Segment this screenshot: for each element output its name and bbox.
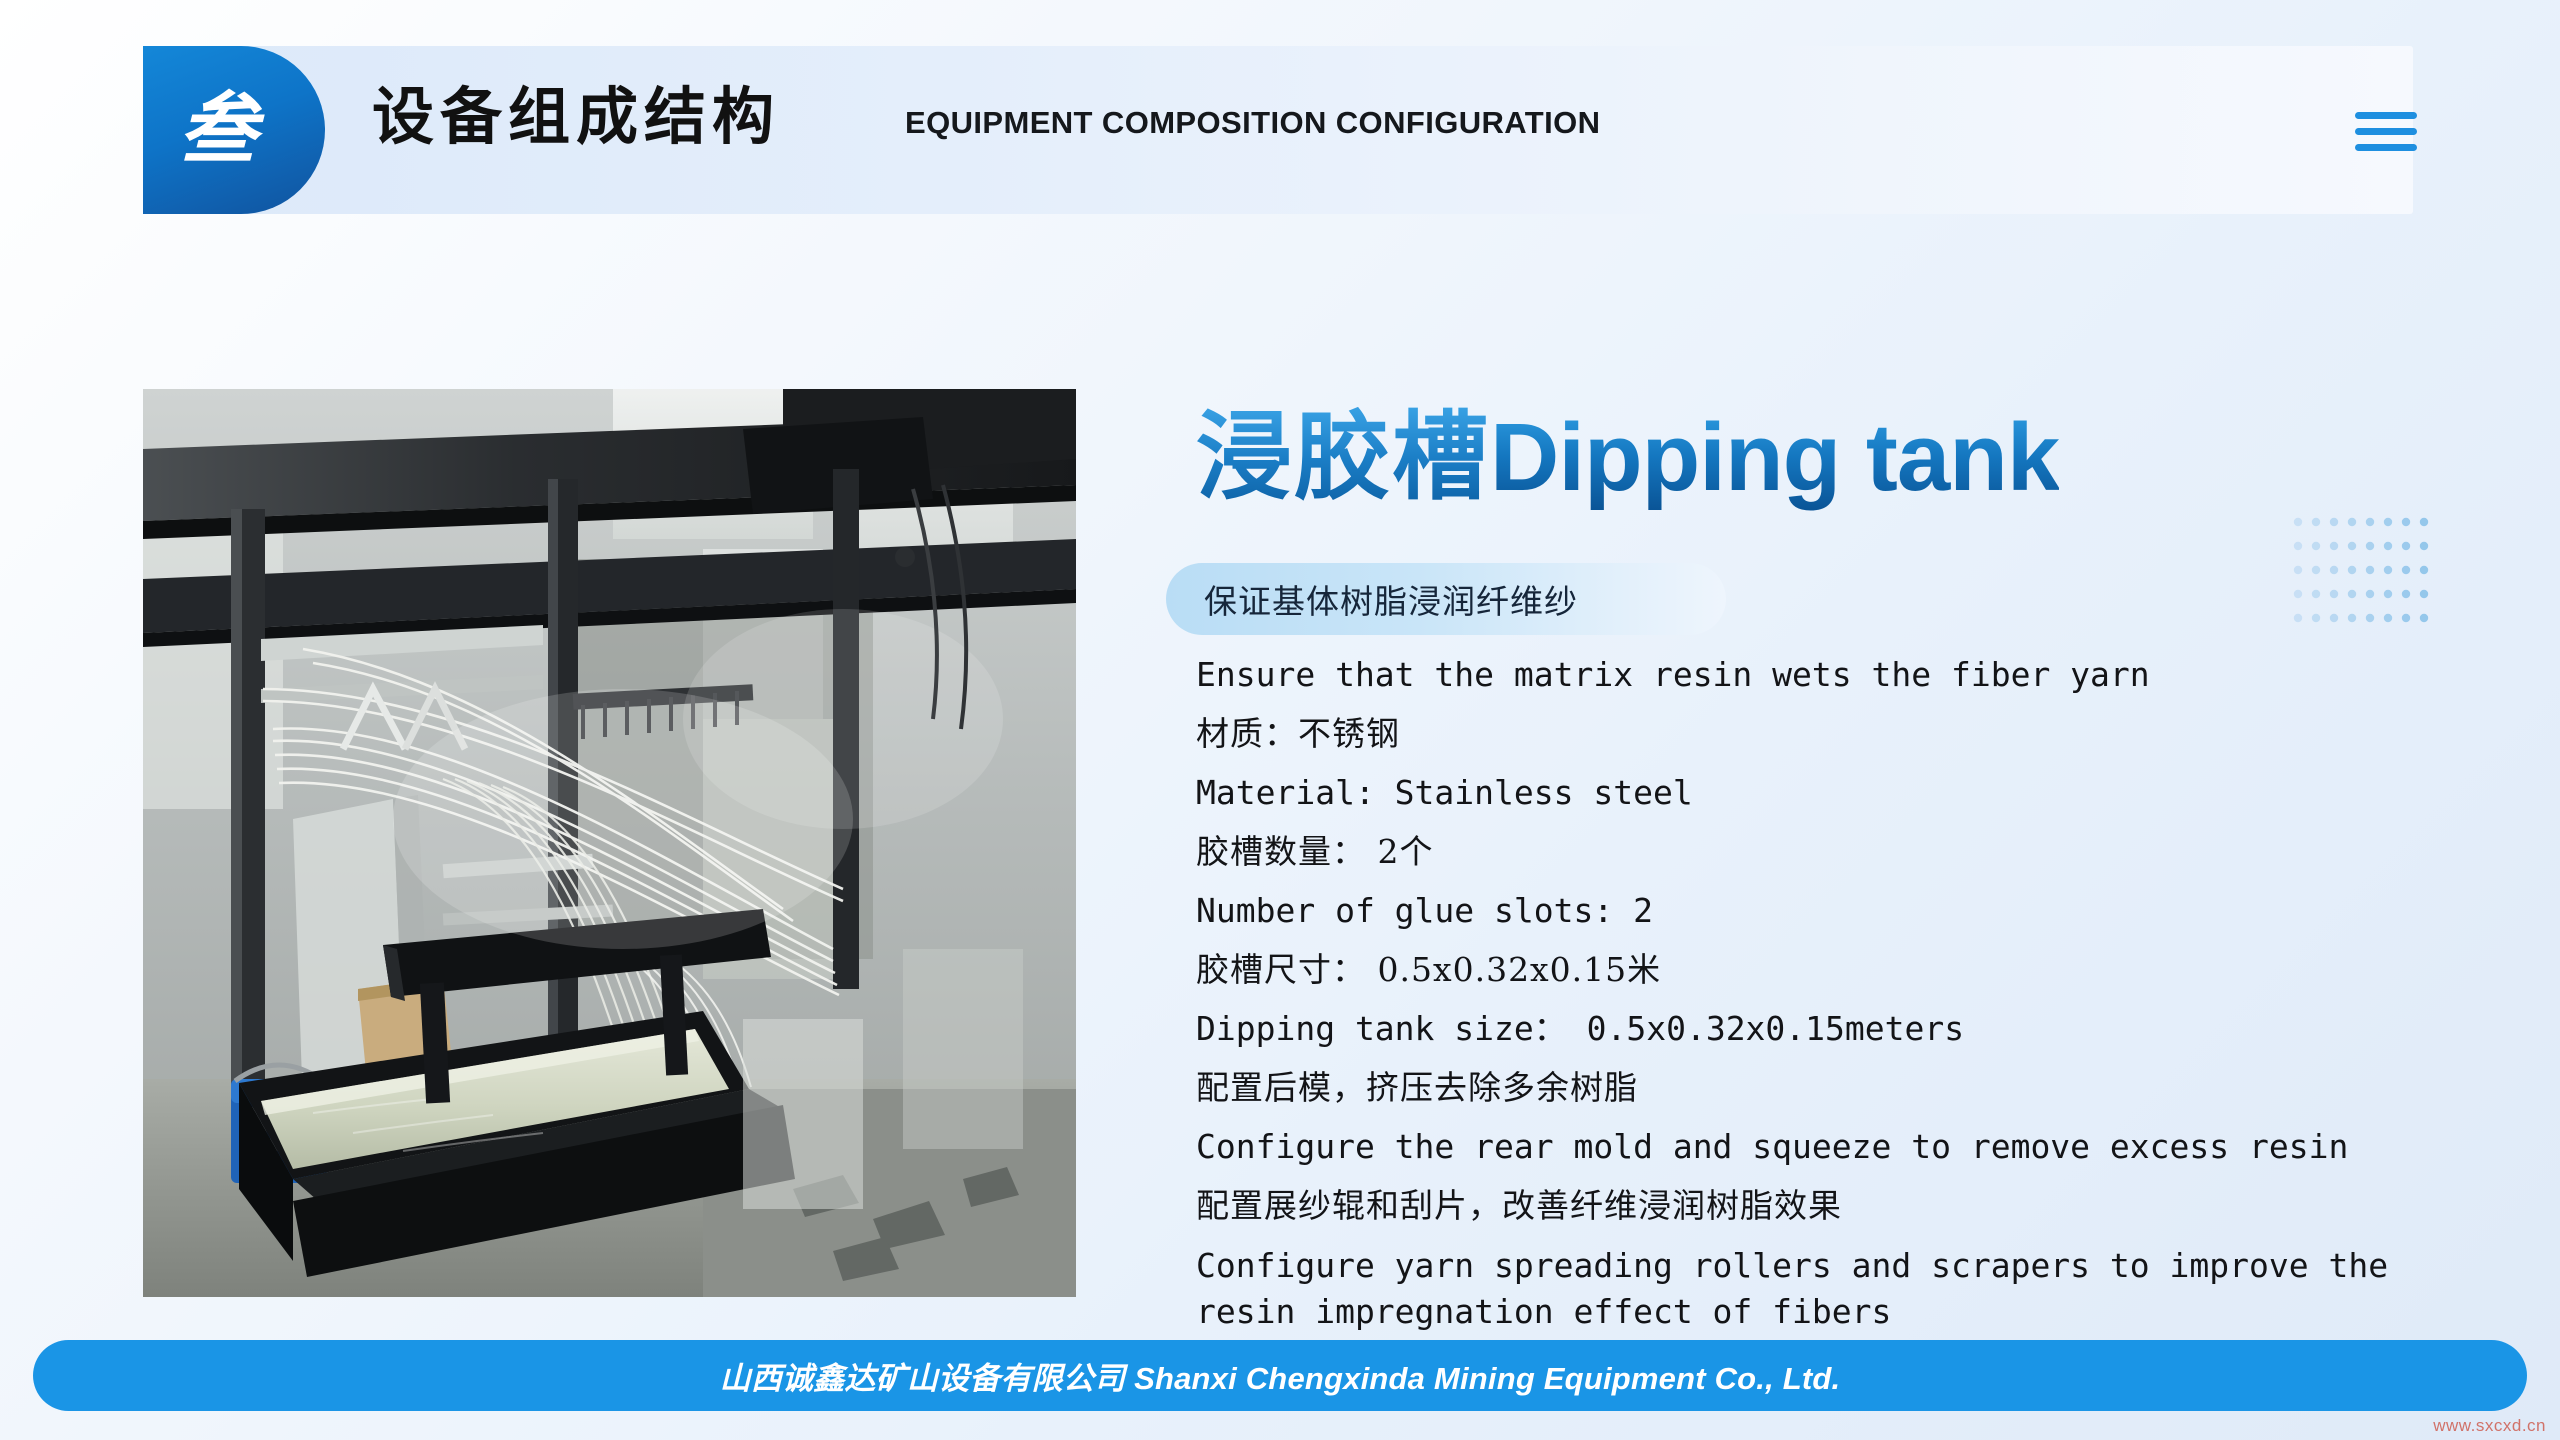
dot (2294, 614, 2302, 622)
section-number-badge: 叁 (143, 46, 325, 214)
dot (2420, 590, 2428, 598)
dot (2420, 566, 2428, 574)
footer-company-cn: 山西诚鑫达矿山设备有限公司 (720, 1361, 1126, 1396)
dot (2384, 614, 2392, 622)
subtitle-pill: 保证基体树脂浸润纤维纱 (1166, 563, 1726, 635)
dot (2366, 542, 2374, 550)
dot (2420, 542, 2428, 550)
equipment-photo-illustration (143, 389, 1076, 1297)
dot-grid-decoration (2292, 516, 2432, 634)
dot (2294, 518, 2302, 526)
spec-line: 材质：不锈钢 (1196, 704, 2496, 763)
dot-grid-svg (2292, 516, 2432, 634)
dot (2294, 542, 2302, 550)
dot (2312, 518, 2320, 526)
footer-company-name: 山西诚鑫达矿山设备有限公司 Shanxi Chengxinda Mining E… (720, 1353, 1841, 1398)
dot (2330, 614, 2338, 622)
dot (2312, 542, 2320, 550)
dot (2420, 518, 2428, 526)
spec-line: Dipping tank size： 0.5x0.32x0.15meters (1196, 999, 2496, 1058)
dot (2366, 614, 2374, 622)
dot (2402, 542, 2410, 550)
dot (2348, 590, 2356, 598)
dot (2384, 542, 2392, 550)
spec-line: 配置后模，挤压去除多余树脂 (1196, 1058, 2496, 1117)
header-title-chinese: 设备组成结构 (372, 66, 780, 156)
dot (2348, 614, 2356, 622)
dot (2294, 590, 2302, 598)
page-title: 浸胶槽Dipping tank (1196, 405, 2059, 510)
subtitle-pill-label: 保证基体树脂浸润纤维纱 (1166, 575, 1626, 623)
dot (2384, 566, 2392, 574)
dot (2402, 518, 2410, 526)
dot (2384, 518, 2392, 526)
dot (2366, 590, 2374, 598)
page-title-chinese: 浸胶槽 (1196, 400, 1490, 513)
dot (2420, 614, 2428, 622)
dot (2402, 566, 2410, 574)
dot (2312, 566, 2320, 574)
spec-line: Ensure that the matrix resin wets the fi… (1196, 645, 2496, 704)
hamburger-menu-icon[interactable] (2355, 112, 2417, 156)
spec-line: 胶槽数量： 2个 (1196, 822, 2496, 881)
header-title-english: EQUIPMENT COMPOSITION CONFIGURATION (905, 105, 1600, 141)
spec-list: Ensure that the matrix resin wets the fi… (1196, 645, 2496, 1335)
dot (2330, 590, 2338, 598)
spec-line: Number of glue slots: 2 (1196, 881, 2496, 940)
dot (2330, 566, 2338, 574)
spec-line: Material: Stainless steel (1196, 763, 2496, 822)
equipment-photo (143, 389, 1076, 1297)
dot (2402, 590, 2410, 598)
dot (2366, 566, 2374, 574)
dot (2402, 614, 2410, 622)
menu-bar-2 (2355, 128, 2417, 135)
dot (2348, 542, 2356, 550)
menu-bar-1 (2355, 112, 2417, 119)
dot (2312, 590, 2320, 598)
dot (2384, 590, 2392, 598)
dot (2348, 518, 2356, 526)
spec-line: Configure the rear mold and squeeze to r… (1196, 1117, 2496, 1176)
spec-line: 配置展纱辊和刮片，改善纤维浸润树脂效果 (1196, 1176, 2496, 1235)
menu-bar-3 (2355, 144, 2417, 151)
spec-line: Configure yarn spreading rollers and scr… (1196, 1235, 2496, 1335)
footer-company-en: Shanxi Chengxinda Mining Equipment Co., … (1134, 1361, 1840, 1396)
spec-line: 胶槽尺寸： 0.5x0.32x0.15米 (1196, 940, 2496, 999)
watermark-text: www.sxcxd.cn (2433, 1416, 2546, 1436)
dot (2366, 518, 2374, 526)
dot (2330, 518, 2338, 526)
dot (2330, 542, 2338, 550)
footer-bar: 山西诚鑫达矿山设备有限公司 Shanxi Chengxinda Mining E… (33, 1340, 2527, 1411)
dot (2294, 566, 2302, 574)
section-number-label: 叁 (143, 46, 293, 214)
dot (2348, 566, 2356, 574)
dot (2312, 614, 2320, 622)
page-title-english: Dipping tank (1490, 404, 2059, 511)
